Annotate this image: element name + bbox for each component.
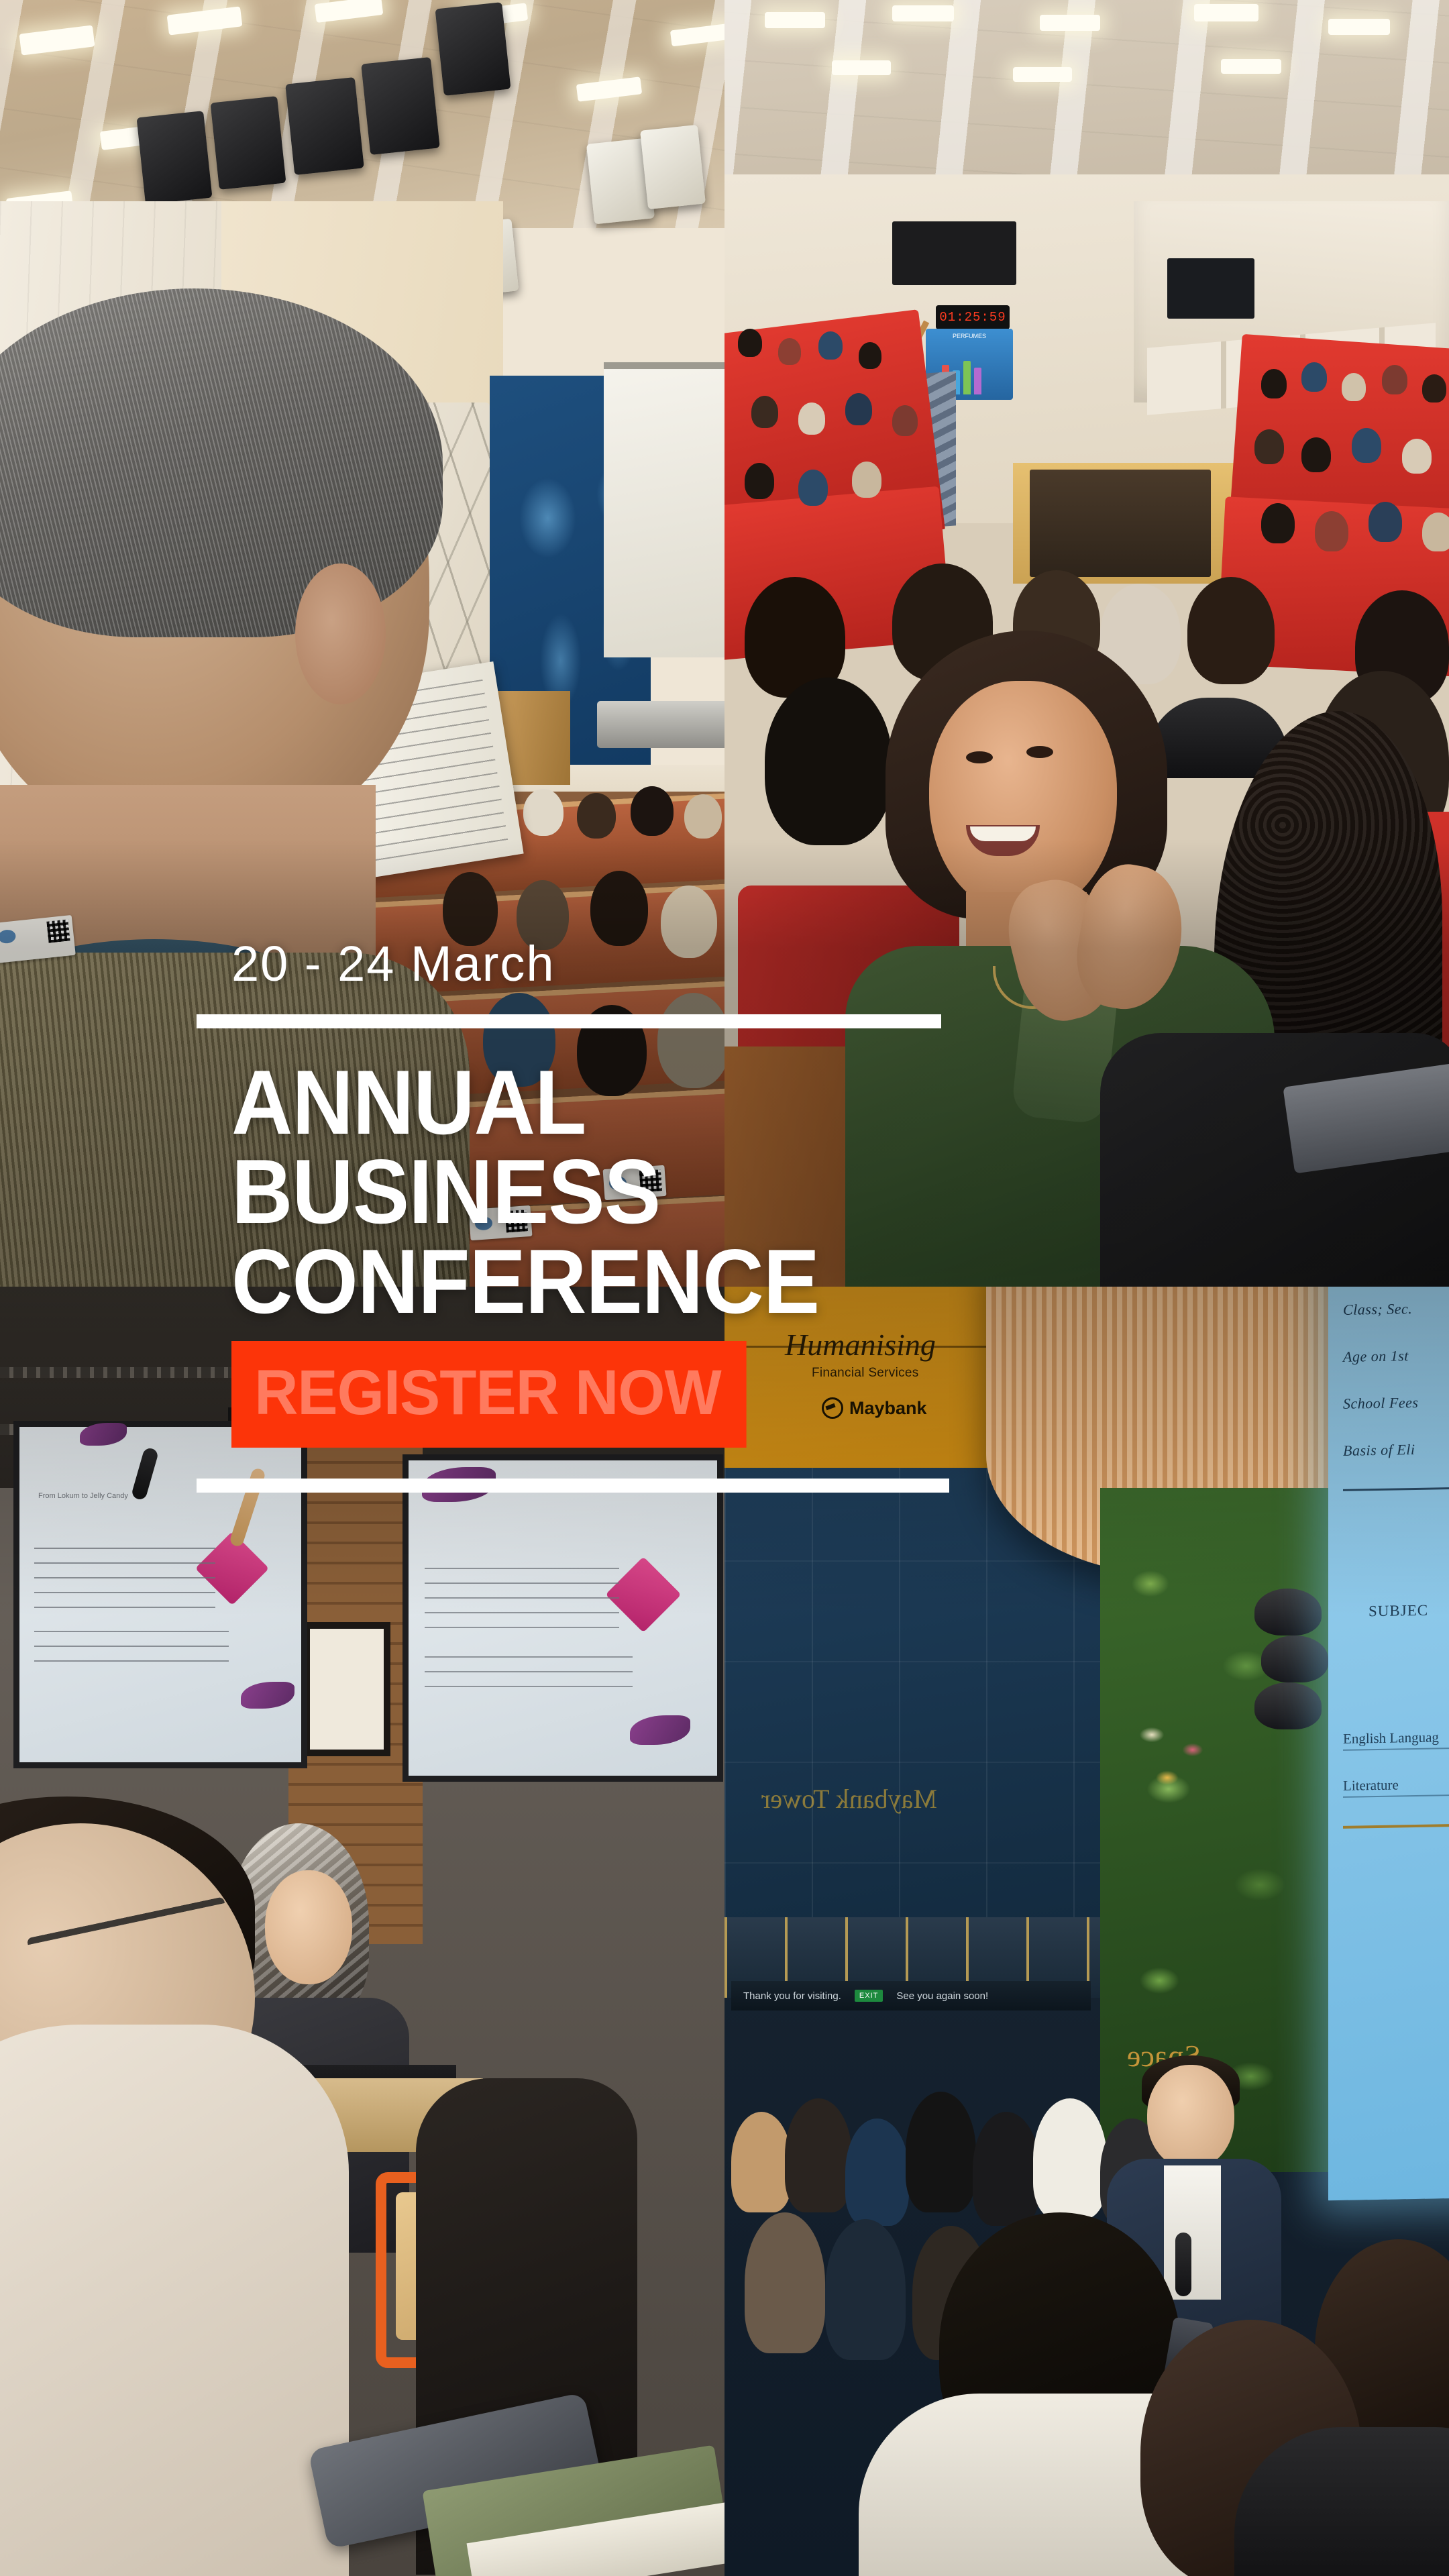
screen-line-1: Age on 1st xyxy=(1343,1346,1449,1366)
stage-light-icon xyxy=(361,57,440,155)
blue-info-screen: Class; Sec. Age on 1st School Fees Basis… xyxy=(1328,1287,1449,2200)
handheld-mic xyxy=(1175,2233,1191,2296)
presentation-screen-right xyxy=(402,1454,723,1782)
exit-sign: EXIT xyxy=(855,1990,883,2002)
divider-top xyxy=(197,1014,941,1028)
foreground-attendee xyxy=(0,2025,349,2576)
divider-bottom xyxy=(197,1479,949,1493)
screen-heading: SUBJEC xyxy=(1368,1602,1428,1621)
screen-line-0: Class; Sec. xyxy=(1343,1299,1449,1319)
tower-sign: Maybank Tower xyxy=(761,1783,937,1815)
page-title: ANNUAL BUSINESS CONFERENCE xyxy=(231,1058,979,1326)
headline-line-1: ANNUAL xyxy=(231,1058,979,1147)
screen-line-2: School Fees xyxy=(1343,1393,1449,1413)
screen-line-3: Basis of Eli xyxy=(1343,1440,1449,1460)
projector-cart xyxy=(597,701,724,748)
seat-qr-card xyxy=(0,915,76,963)
screen-row-0: English Languag xyxy=(1343,1728,1449,1751)
floor-notice-left: Thank you for visiting. xyxy=(743,1990,841,2002)
conference-poster: 01:25:59 PERFUMES xyxy=(0,0,1449,2576)
screen-row-1: Literature xyxy=(1343,1775,1449,1798)
stage-light-icon xyxy=(210,96,286,190)
stage-light-icon xyxy=(285,77,364,175)
projection-screen xyxy=(604,362,724,657)
framed-artwork xyxy=(303,1622,390,1756)
countdown-clock: 01:25:59 xyxy=(936,305,1010,329)
event-date: 20 - 24 March xyxy=(231,939,1035,989)
slide-title: From Lokum to Jelly Candy xyxy=(38,1489,206,1503)
floor-notice-right: See you again soon! xyxy=(896,1990,988,2002)
glass-facade: Maybank Tower xyxy=(724,1468,1100,1964)
pendant-lights xyxy=(1254,1589,1335,1736)
stage-light-icon xyxy=(640,125,706,209)
headline-line-2: BUSINESS xyxy=(231,1147,979,1236)
register-now-button[interactable]: REGISTER NOW xyxy=(231,1341,747,1448)
headline-line-3: CONFERENCE xyxy=(231,1237,979,1326)
stage-light-icon xyxy=(435,2,511,96)
stage-light-icon xyxy=(136,111,212,205)
floor-notice-strip: Thank you for visiting. EXIT See you aga… xyxy=(731,1981,1091,2010)
